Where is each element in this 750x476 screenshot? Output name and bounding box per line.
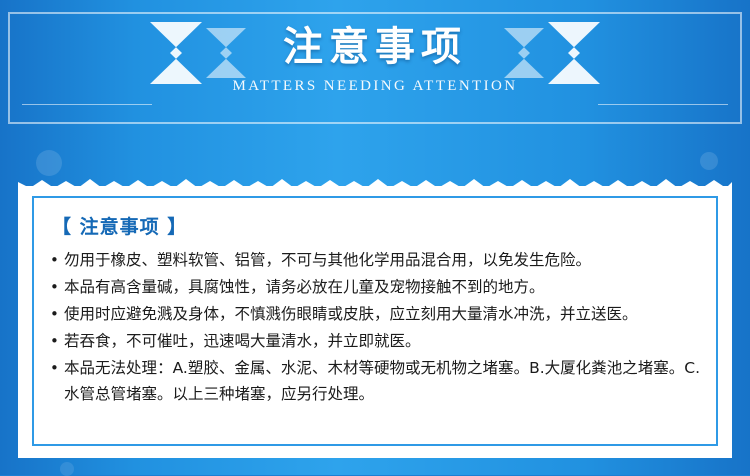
decorative-bubble <box>36 150 62 176</box>
header-rule-right <box>598 104 728 105</box>
page-title-en: MATTERS NEEDING ATTENTION <box>0 78 750 95</box>
header-title-zone: 注意事项 MATTERS NEEDING ATTENTION <box>0 18 750 95</box>
notice-list: 勿用于橡皮、塑料软管、铝管，不可与其他化学用品混合用，以免发生危险。 本品有高含… <box>50 247 700 407</box>
page-title-cn: 注意事项 <box>0 18 750 76</box>
notice-card-title: 【 注意事项 】 <box>52 212 700 239</box>
list-item: 使用时应避免溅及身体，不慎溅伤眼睛或皮肤，应立刻用大量清水冲洗，并立送医。 <box>50 301 700 327</box>
list-item: 若吞食，不可催吐，迅速喝大量清水，并立即就医。 <box>50 328 700 354</box>
header-rule-left <box>22 104 152 105</box>
notice-card: 【 注意事项 】 勿用于橡皮、塑料软管、铝管，不可与其他化学用品混合用，以免发生… <box>18 186 732 458</box>
decorative-bubble <box>700 152 718 170</box>
list-item: 本品无法处理：A.塑胶、金属、水泥、木材等硬物或无机物之堵塞。B.大厦化粪池之堵… <box>50 355 700 407</box>
header-banner: 注意事项 MATTERS NEEDING ATTENTION <box>0 0 750 140</box>
list-item: 勿用于橡皮、塑料软管、铝管，不可与其他化学用品混合用，以免发生危险。 <box>50 247 700 273</box>
notice-card-inner: 【 注意事项 】 勿用于橡皮、塑料软管、铝管，不可与其他化学用品混合用，以免发生… <box>32 196 718 446</box>
decorative-bubble <box>60 462 74 476</box>
notice-card-body: 【 注意事项 】 勿用于橡皮、塑料软管、铝管，不可与其他化学用品混合用，以免发生… <box>18 186 732 458</box>
poster-page: 注意事项 MATTERS NEEDING ATTENTION 【 注意事项 】 … <box>0 0 750 475</box>
list-item: 本品有高含量碱，具腐蚀性，请务必放在儿童及宠物接触不到的地方。 <box>50 274 700 300</box>
